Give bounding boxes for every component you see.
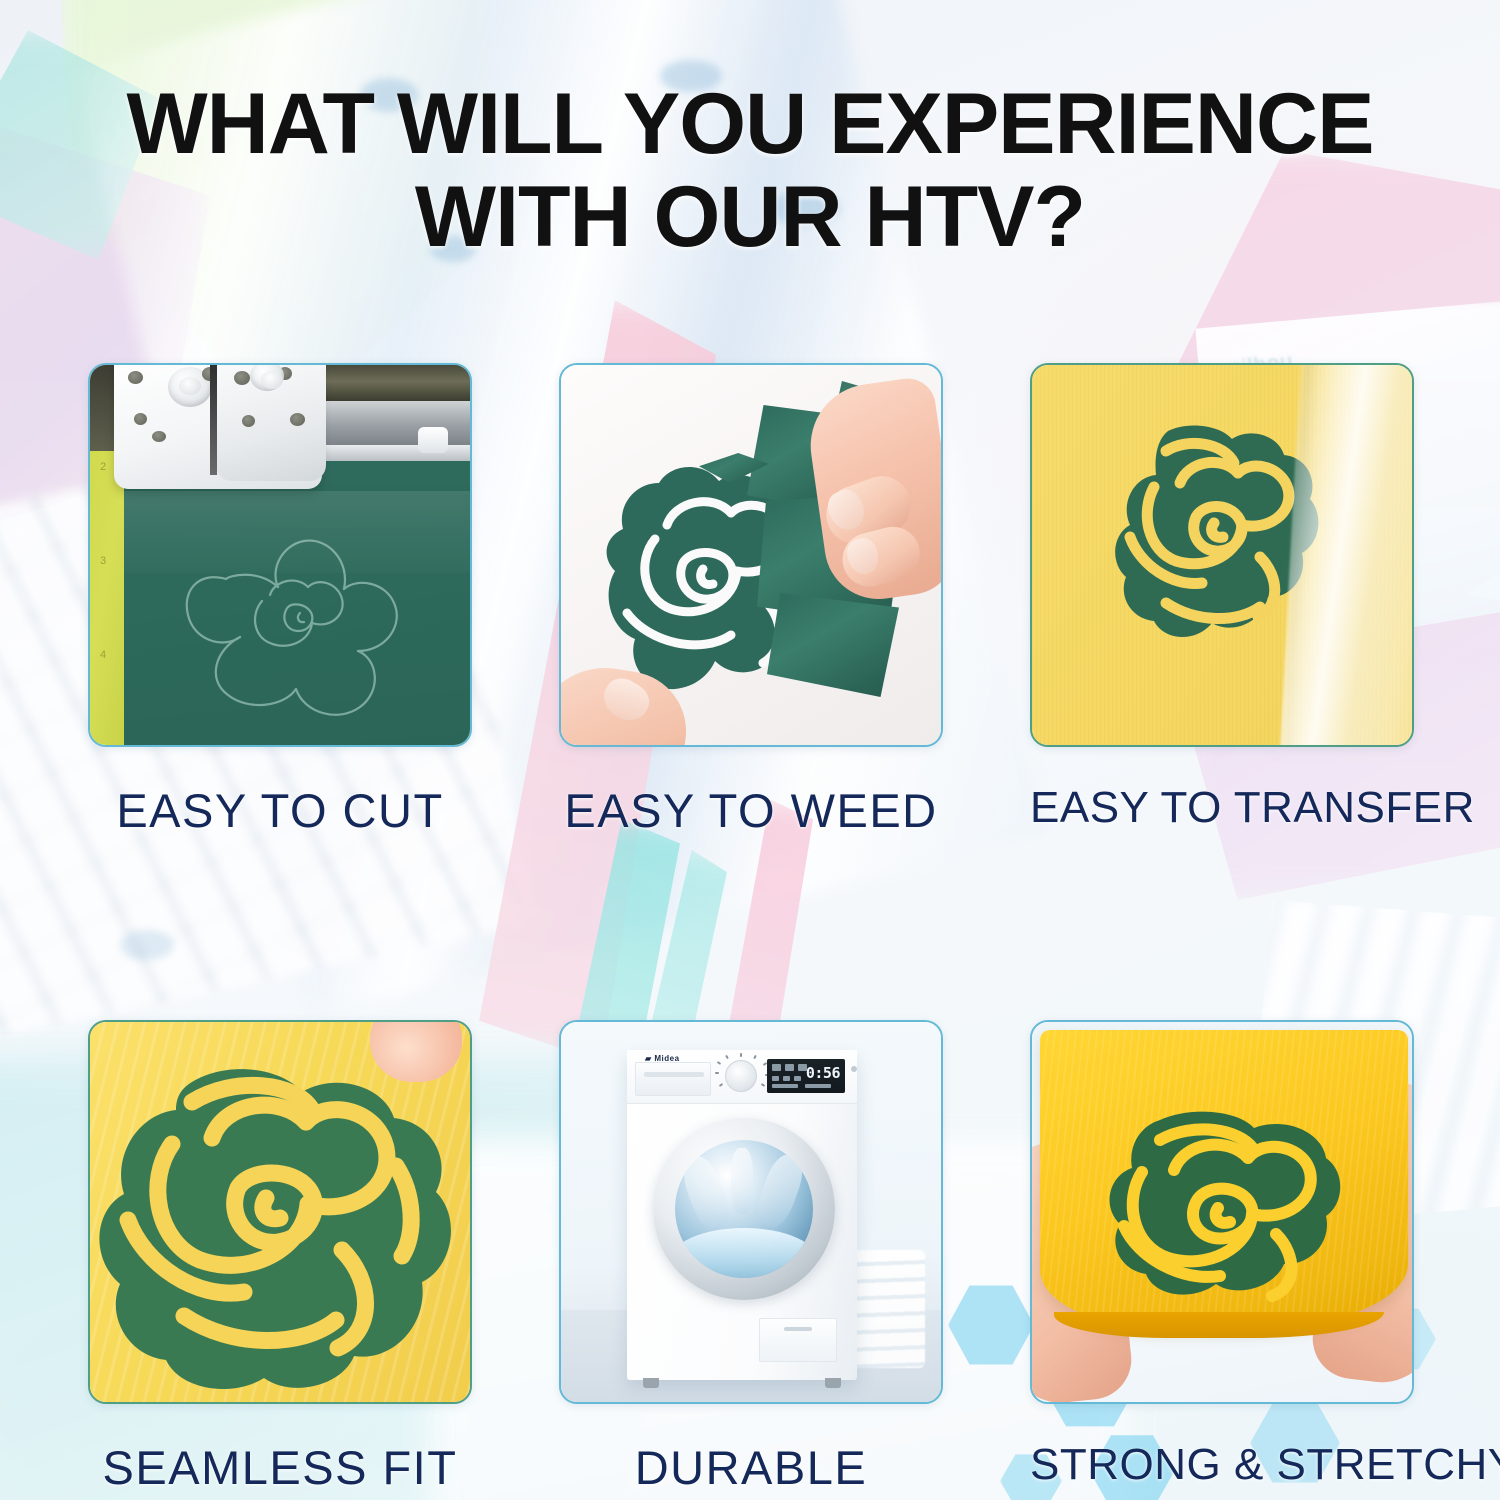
carriage-screw [152,431,166,442]
machine-foot [643,1378,659,1388]
remaining-time: 0:56 [806,1064,840,1082]
rose-cut-outline [154,483,444,723]
stretched-yellow-fabric [1040,1030,1408,1330]
rose-design-stretched [1098,1106,1348,1306]
drum-fin [751,1150,808,1231]
machine-foot [825,1378,841,1388]
page-title: WHAT WILL YOU EXPERIENCE WITH OUR HTV? [0,78,1500,264]
carrier-transfer-sheet [1279,363,1414,747]
door-glass [675,1140,813,1278]
carriage-gap [210,363,217,475]
rose-design-seamless [96,1048,472,1400]
caption-durable: DURABLE [559,1440,943,1495]
machine-rail-clip [418,427,448,453]
display-icon [805,1084,831,1088]
drum-fin [677,1152,734,1233]
power-button[interactable] [851,1066,857,1072]
filter-access-panel[interactable] [759,1318,837,1362]
feature-cell-strong-stretchy: STRONG & STRETCHY [1030,1020,1414,1495]
caption-easy-to-weed: EASY TO WEED [559,783,943,838]
panel-easy-to-cut: 2 3 4 [88,363,472,747]
status-display: 0:56 [767,1059,845,1093]
display-icon [794,1076,801,1081]
carriage-screw [134,413,147,425]
carriage-screw [290,413,305,426]
washer-door[interactable] [653,1118,835,1300]
feature-cell-easy-to-weed: EASY TO WEED [559,363,943,838]
feature-cell-durable: ▰ Midea 0:56 [559,1020,943,1495]
fingernail [596,672,655,728]
blade-holder-knob-2 [250,363,284,391]
control-panel: ▰ Midea 0:56 [627,1050,857,1104]
feature-cell-easy-to-cut: 2 3 4 [88,363,472,838]
product-infographic: silhou AM WHAT WILL YOU EXPERIENCE WITH … [0,0,1500,1500]
feature-row-1: 2 3 4 [88,363,1415,838]
drum-fin [731,1148,753,1214]
feature-grid: 2 3 4 [88,363,1415,1495]
feature-cell-easy-to-transfer: EASY TO TRANSFER [1030,363,1414,838]
caption-easy-to-transfer: EASY TO TRANSFER [1030,783,1414,833]
water-in-drum [675,1228,813,1278]
carriage-screw [128,371,143,384]
panel-strong-stretchy [1030,1020,1414,1404]
feature-row-2: SEAMLESS FIT ▰ Midea [88,1020,1415,1495]
caption-seamless-fit: SEAMLESS FIT [88,1440,472,1495]
panel-durable: ▰ Midea 0:56 [559,1020,943,1404]
machine-rail-bar [324,445,470,461]
display-icon [798,1064,807,1071]
panel-easy-to-transfer [1030,363,1414,747]
caption-strong-stretchy: STRONG & STRETCHY [1030,1440,1414,1490]
display-icon [772,1084,798,1088]
panel-easy-to-weed [559,363,943,747]
panel-seamless-fit [88,1020,472,1404]
washing-machine: ▰ Midea 0:56 [627,1050,857,1380]
carriage-screw [242,415,255,427]
display-icon [785,1064,794,1071]
detergent-drawer [635,1062,711,1096]
feature-cell-seamless-fit: SEAMLESS FIT [88,1020,472,1495]
carriage-screw [234,371,250,385]
display-icon [772,1076,779,1081]
cutter-carriage-right [216,363,326,481]
display-icon [772,1064,781,1071]
brand-logo: ▰ Midea [645,1054,680,1063]
caption-easy-to-cut: EASY TO CUT [88,783,472,838]
display-icon [783,1076,790,1081]
program-dial[interactable] [725,1060,757,1092]
